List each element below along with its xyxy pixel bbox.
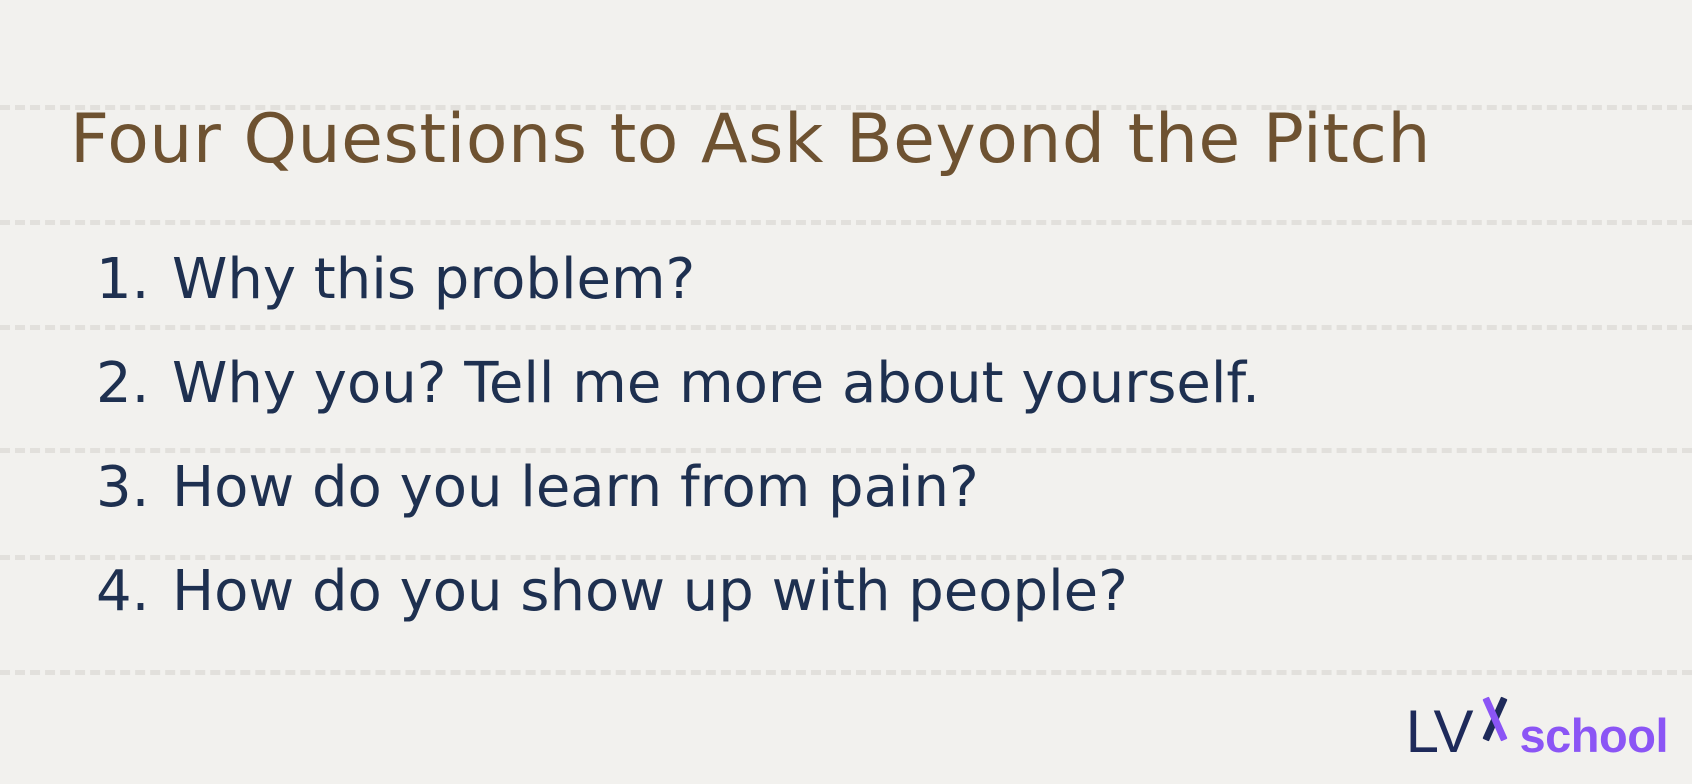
list-item-number: 1. bbox=[96, 228, 172, 332]
list-item: 3. How do you learn from pain? bbox=[96, 436, 1260, 540]
list-item-label: How do you learn from pain? bbox=[172, 436, 979, 540]
slide-canvas: Four Questions to Ask Beyond the Pitch 1… bbox=[0, 0, 1692, 784]
slide-content: Four Questions to Ask Beyond the Pitch 1… bbox=[0, 0, 1692, 784]
logo-mark-text: LV bbox=[1406, 702, 1473, 762]
lvx-school-logo: LV school bbox=[1406, 692, 1668, 762]
logo-x-icon bbox=[1473, 692, 1517, 752]
questions-list: 1. Why this problem? 2. Why you? Tell me… bbox=[96, 228, 1260, 644]
list-item: 2. Why you? Tell me more about yourself. bbox=[96, 332, 1260, 436]
list-item-number: 2. bbox=[96, 332, 172, 436]
list-item-label: Why you? Tell me more about yourself. bbox=[172, 332, 1260, 436]
list-item-number: 3. bbox=[96, 436, 172, 540]
list-item: 1. Why this problem? bbox=[96, 228, 1260, 332]
list-item-label: How do you show up with people? bbox=[172, 540, 1128, 644]
list-item-number: 4. bbox=[96, 540, 172, 644]
list-item-label: Why this problem? bbox=[172, 228, 695, 332]
list-item: 4. How do you show up with people? bbox=[96, 540, 1260, 644]
page-title: Four Questions to Ask Beyond the Pitch bbox=[70, 106, 1431, 174]
logo-word-school: school bbox=[1520, 712, 1668, 759]
